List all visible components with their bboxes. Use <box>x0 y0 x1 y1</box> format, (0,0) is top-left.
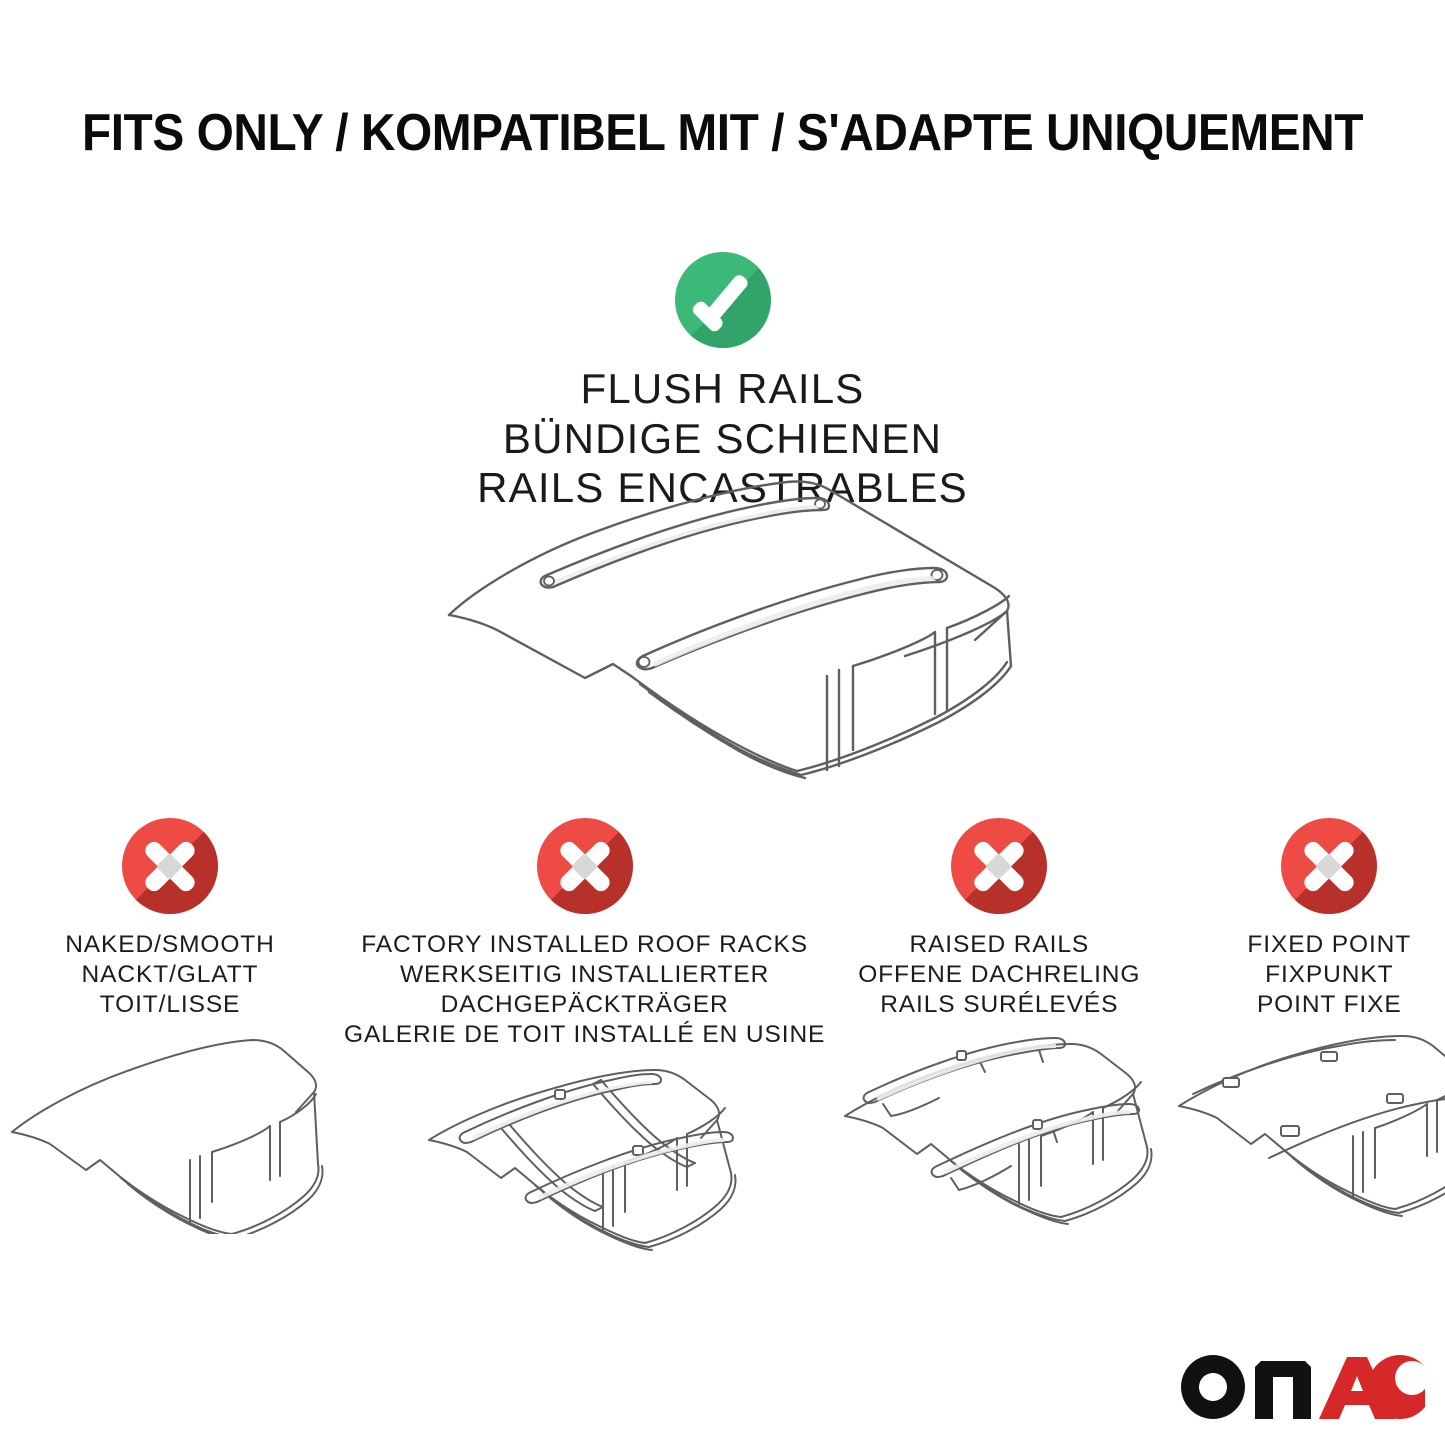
x-glyph <box>537 818 633 914</box>
incompatible-labels: FIXED POINT FIXPUNKT POINT FIXE <box>1169 930 1445 1020</box>
car-roof-raised-rails-sketch <box>829 1034 1169 1249</box>
compatible-label-de: BÜNDIGE SCHIENEN <box>0 414 1445 464</box>
label-fr: POINT FIXE <box>1173 990 1445 1020</box>
incompatible-labels: RAISED RAILS OFFENE DACHRELING RAILS SUR… <box>829 930 1169 1020</box>
red-x-circle-icon <box>537 818 633 914</box>
car-roof-factory-roof-racks-sketch <box>340 1064 829 1279</box>
label-fr: GALERIE DE TOIT INSTALLÉ EN USINE <box>344 1020 825 1050</box>
check-glyph <box>675 252 771 348</box>
x-glyph <box>122 818 218 914</box>
label-en: NAKED/SMOOTH <box>4 930 336 960</box>
page-title: FITS ONLY / KOMPATIBEL MIT / S'ADAPTE UN… <box>58 103 1387 163</box>
logo-letter-m <box>1255 1361 1311 1419</box>
compatible-label-en: FLUSH RAILS <box>0 364 1445 414</box>
incompatible-grid: NAKED/SMOOTH NACKT/GLATT TOIT/LISSE <box>0 818 1445 1279</box>
incompatible-item-fixed-point: FIXED POINT FIXPUNKT POINT FIXE <box>1169 818 1445 1249</box>
incompatible-labels: FACTORY INSTALLED ROOF RACKS WERKSEITIG … <box>340 930 829 1050</box>
label-fr: RAILS SURÉLEVÉS <box>833 990 1165 1020</box>
label-en: FACTORY INSTALLED ROOF RACKS <box>344 930 825 960</box>
red-x-circle-icon <box>1281 818 1377 914</box>
label-en: RAISED RAILS <box>833 930 1165 960</box>
incompatible-item-naked-smooth: NAKED/SMOOTH NACKT/GLATT TOIT/LISSE <box>0 818 340 1249</box>
label-fr: TOIT/LISSE <box>4 990 336 1020</box>
incompatible-labels: NAKED/SMOOTH NACKT/GLATT TOIT/LISSE <box>0 930 340 1020</box>
label-de-1: WERKSEITIG INSTALLIERTER <box>344 960 825 990</box>
red-x-circle-icon <box>122 818 218 914</box>
red-x-circle-icon <box>951 818 1047 914</box>
label-de-2: DACHGEPÄCKTRÄGER <box>344 990 825 1020</box>
incompatible-item-factory-roof-racks: FACTORY INSTALLED ROOF RACKS WERKSEITIG … <box>340 818 829 1279</box>
car-roof-fixed-point-sketch <box>1169 1034 1445 1249</box>
x-glyph <box>951 818 1047 914</box>
car-roof-naked-smooth-sketch <box>0 1034 340 1249</box>
label-de: NACKT/GLATT <box>4 960 336 990</box>
label-de: OFFENE DACHRELING <box>833 960 1165 990</box>
green-check-circle-icon <box>675 252 771 348</box>
omac-logo <box>1177 1351 1427 1423</box>
car-roof-with-flush-rails-sketch <box>435 470 1035 780</box>
x-glyph <box>1281 818 1377 914</box>
label-en: FIXED POINT <box>1173 930 1445 960</box>
label-de: FIXPUNKT <box>1173 960 1445 990</box>
logo-letter-o <box>1181 1355 1245 1419</box>
incompatible-item-raised-rails: RAISED RAILS OFFENE DACHRELING RAILS SUR… <box>829 818 1169 1249</box>
